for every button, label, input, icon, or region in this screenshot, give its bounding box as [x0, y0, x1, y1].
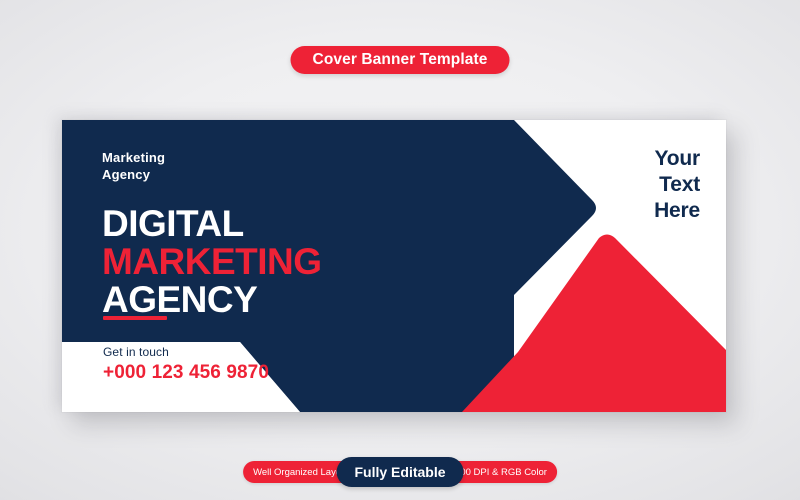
banner-headline: DIGITAL MARKETING AGENCY [102, 205, 322, 319]
top-badge: Cover Banner Template [291, 46, 510, 74]
headline-line-1: DIGITAL [102, 205, 322, 243]
cover-banner-card: Marketing Agency DIGITAL MARKETING AGENC… [62, 120, 726, 412]
headline-underline-rule [103, 316, 167, 320]
your-text-placeholder: Your Text Here [654, 146, 700, 223]
contact-label: Get in touch [103, 345, 169, 359]
contact-phone-number: +000 123 456 9870 [103, 362, 269, 384]
agency-tagline: Marketing Agency [102, 150, 165, 183]
bottom-info-bar: Well Organized Layers 300 DPI & RGB Colo… [243, 460, 557, 484]
headline-line-3: AGENCY [102, 281, 322, 319]
headline-line-2: MARKETING [102, 243, 322, 281]
poster-canvas: Cover Banner Template Marketing Agency D… [0, 0, 800, 500]
fully-editable-badge: Fully Editable [336, 457, 463, 487]
bottom-left-label: Well Organized Layers [253, 467, 349, 478]
bottom-right-label: 300 DPI & RGB Color [455, 467, 547, 478]
